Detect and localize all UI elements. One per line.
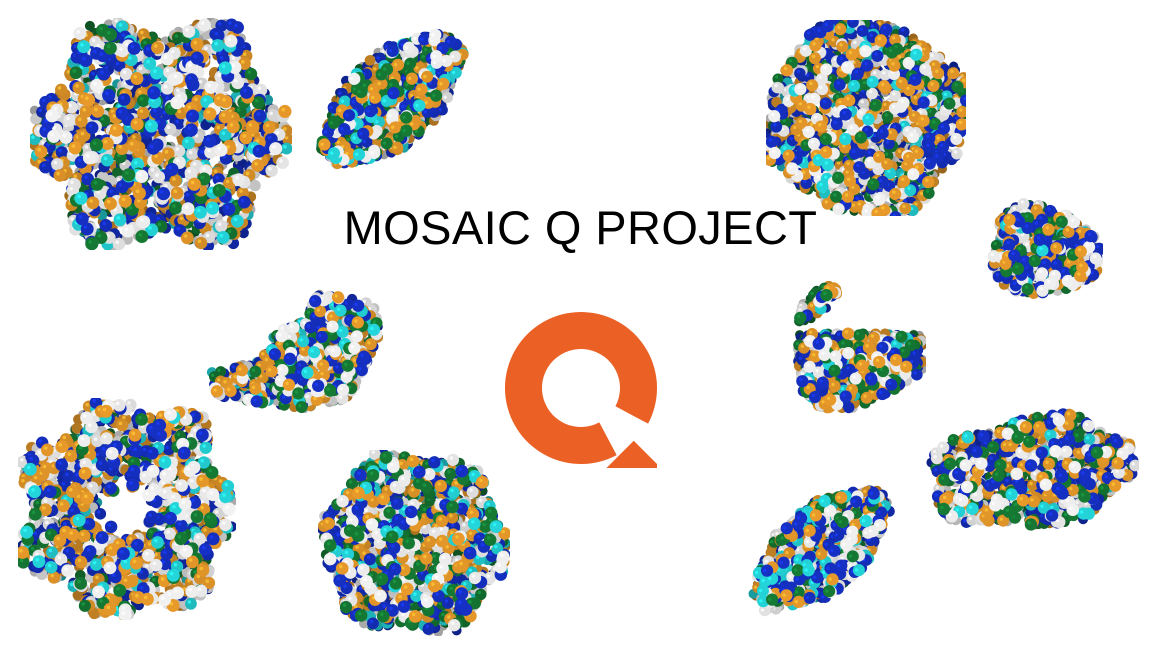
q-logo-ring-group: [505, 312, 657, 468]
protein-structure-armed-monomer: [786, 280, 926, 414]
page-title-text: MOSAIC Q PROJECT: [344, 204, 818, 251]
protein-structure-elongated-top: [303, 8, 481, 190]
protein-structure-crescent-mid-left: [205, 285, 385, 413]
protein-structure-square-tetramer: [766, 20, 966, 216]
mosaic-q-project-banner: MOSAIC Q PROJECT: [0, 0, 1165, 646]
protein-structure-vertical-oval: [985, 180, 1103, 322]
mosaic-q-logo: [505, 312, 657, 468]
protein-structure-ring-heptamer: [18, 398, 236, 620]
protein-structure-wide-ellipse: [925, 402, 1139, 542]
page-title: MOSAIC Q PROJECT: [0, 204, 1165, 251]
protein-structure-hexagonal-blob: [318, 450, 510, 636]
protein-structure-elongated-bottom: [735, 468, 907, 630]
